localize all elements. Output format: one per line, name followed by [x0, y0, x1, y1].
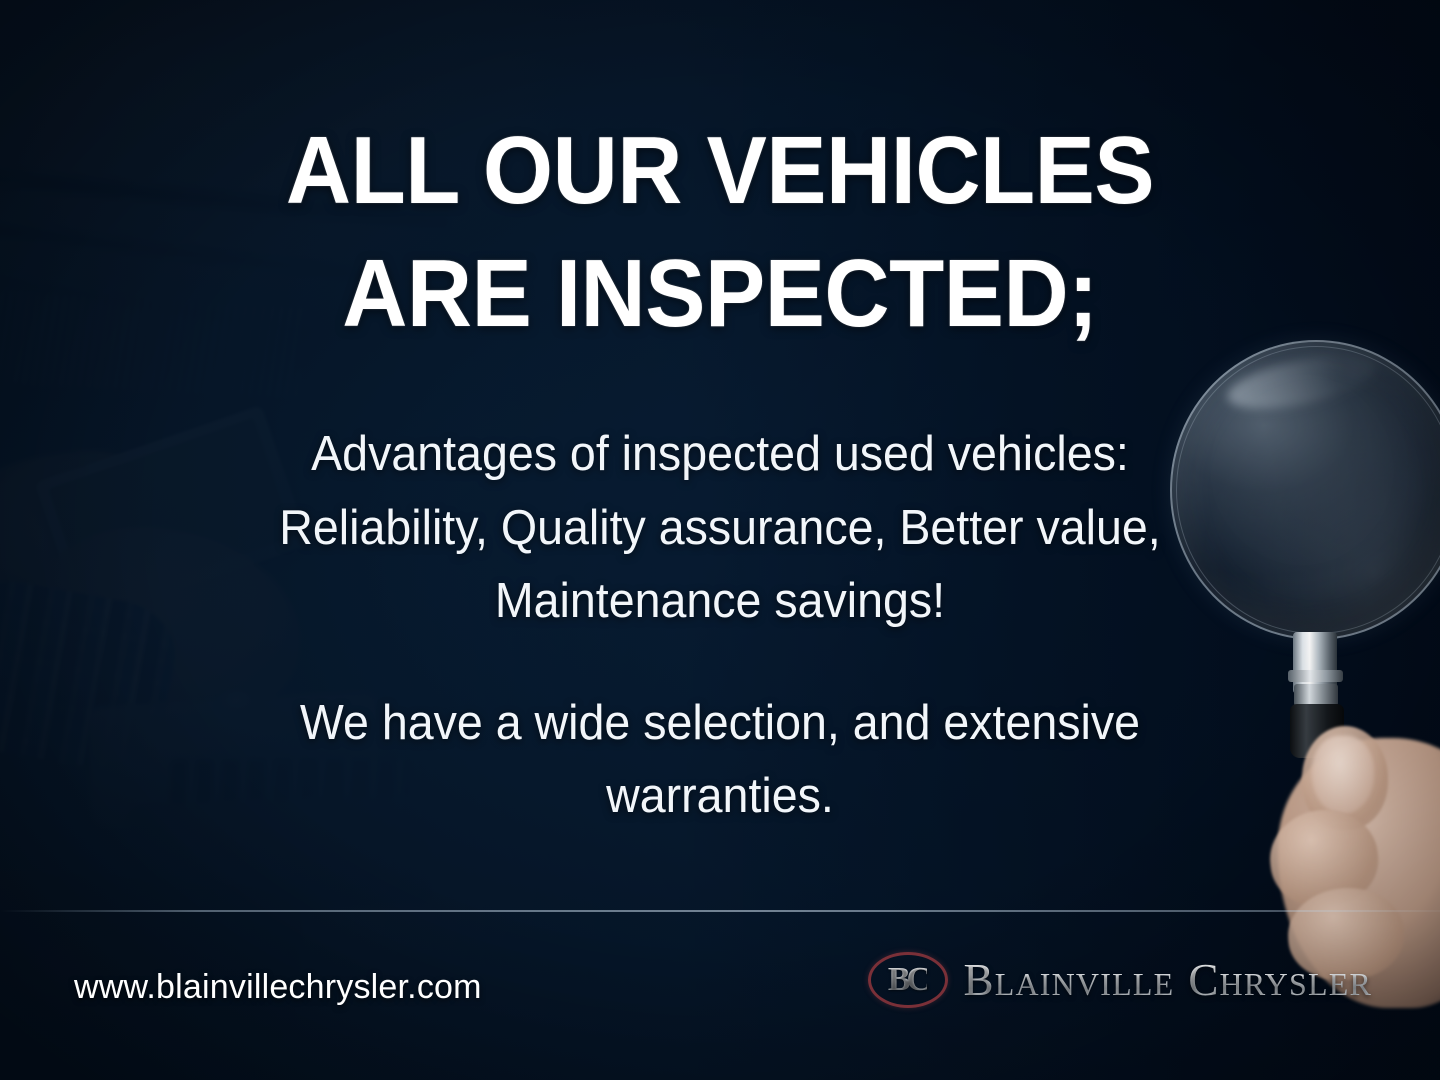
- magnifier-ferrule: [1294, 684, 1338, 706]
- bc-emblem-icon: BC: [868, 952, 948, 1008]
- magnifying-glass-icon: [1160, 340, 1440, 980]
- body-paragraph-2: We have a wide selection, and extensive …: [274, 687, 1167, 834]
- body-paragraph-1: Advantages of inspected used vehicles: R…: [274, 418, 1167, 639]
- promotional-slide: ALL OUR VEHICLES ARE INSPECTED; Advantag…: [0, 0, 1440, 1080]
- brand-wordmark: BlainvilleChrysler: [964, 954, 1373, 1006]
- magnifier-collar-ring: [1288, 670, 1343, 682]
- magnifier-lens-glint: [1223, 345, 1379, 419]
- magnifier-lens: [1170, 340, 1440, 640]
- footer-divider: [0, 910, 1440, 912]
- thumbnail: [1312, 736, 1374, 814]
- brand-word-chrysler: Chrysler: [1188, 955, 1372, 1005]
- website-url[interactable]: www.blainvillechrysler.com: [74, 968, 482, 1007]
- page-title: ALL OUR VEHICLES ARE INSPECTED;: [43, 110, 1397, 356]
- body-copy: Advantages of inspected used vehicles: R…: [250, 418, 1190, 834]
- brand-word-blainville: Blainville: [964, 955, 1175, 1005]
- emblem-initials: BC: [888, 961, 927, 999]
- brand-logo: BC BlainvilleChrysler: [868, 952, 1373, 1008]
